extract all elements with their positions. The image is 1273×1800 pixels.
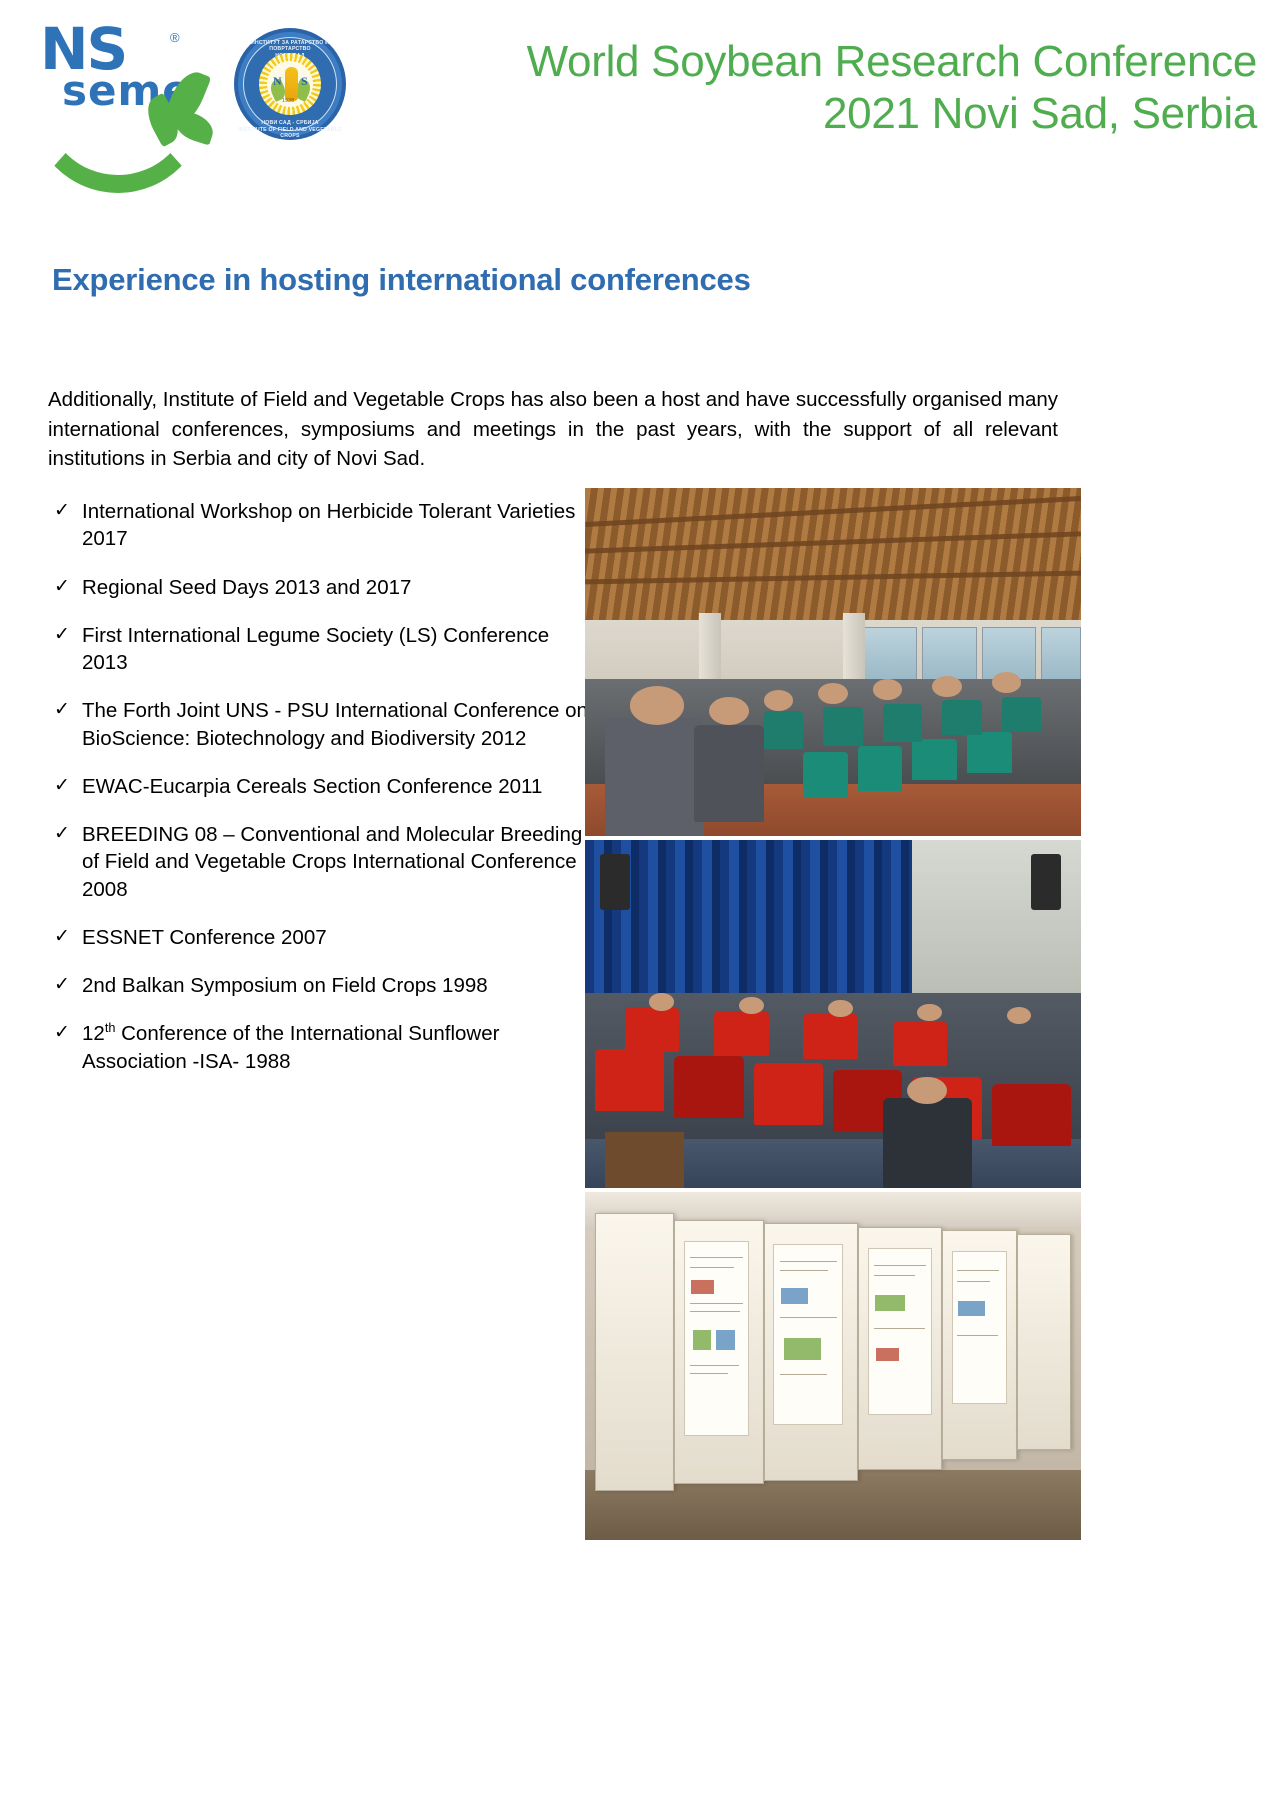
institute-seal-logo: ИНСТИТУТ ЗА РАТАРСТВО И ПОВРТАРСТВО НОВИ… (234, 28, 346, 140)
poster-sheet (684, 1241, 748, 1436)
list-item-label: BREEDING 08 – Conventional and Molecular… (82, 823, 582, 901)
list-item-label: EWAC-Eucarpia Cereals Section Conference… (82, 775, 542, 798)
photo-person-head (932, 676, 962, 697)
list-item: ✓ The Forth Joint UNS - PSU Internationa… (48, 697, 588, 752)
photo-seat (893, 1021, 948, 1066)
ns-seme-logo: NS seme ® (22, 18, 222, 188)
checkmark-icon: ✓ (54, 821, 70, 846)
photo-speaker (1031, 854, 1061, 910)
checkmark-icon: ✓ (54, 697, 70, 722)
photo-seat (942, 700, 982, 735)
checkmark-icon: ✓ (54, 924, 70, 949)
photo-person (605, 718, 704, 836)
photo-seat (714, 1011, 769, 1056)
list-item: ✓ International Workshop on Herbicide To… (48, 498, 588, 553)
list-item-label: The Forth Joint UNS - PSU International … (82, 699, 588, 749)
list-item-label-post: Conference of the International Sunflowe… (82, 1022, 499, 1072)
poster-board (595, 1213, 674, 1491)
seal-monogram-n: N (273, 74, 282, 89)
list-item-label: International Workshop on Herbicide Tole… (82, 500, 575, 550)
seal-monogram-s: S (301, 74, 308, 89)
photo-seat (595, 1049, 664, 1112)
photo-person-head (917, 1004, 942, 1021)
checkmark-icon: ✓ (54, 972, 70, 997)
registered-trademark-icon: ® (170, 30, 180, 45)
intro-paragraph: Additionally, Institute of Field and Veg… (48, 385, 1058, 474)
photo-person (883, 1098, 972, 1188)
photo-seat (1002, 697, 1042, 732)
photo-conference-hall (585, 488, 1081, 836)
photo-seat (754, 1063, 823, 1126)
checkmark-icon: ✓ (54, 574, 70, 599)
seal-top-text-line1: ИНСТИТУТ ЗА РАТАРСТВО И ПОВРТАРСТВО (251, 40, 329, 52)
seal-year: 1938 (282, 98, 294, 104)
photo-person-head (709, 697, 749, 725)
list-item: ✓ EWAC-Eucarpia Cereals Section Conferen… (48, 773, 588, 800)
conference-title: World Soybean Research Conference 2021 N… (457, 36, 1257, 140)
list-item-label: First International Legume Society (LS) … (82, 624, 549, 674)
conference-list: ✓ International Workshop on Herbicide To… (48, 498, 588, 1096)
photo-seat (625, 1007, 680, 1052)
photo-poster-session (585, 1192, 1081, 1540)
photo-person-head (818, 683, 848, 704)
photo-person-head (630, 686, 685, 724)
logo-wordmark: NS seme (40, 26, 192, 108)
photo-window (863, 627, 918, 686)
page-title: Experience in hosting international conf… (52, 262, 751, 298)
corn-cob-icon (285, 67, 298, 101)
page-header: NS seme ® ИНСТИТУТ ЗА РАТАРСТВО И ПОВРТА… (0, 0, 1273, 190)
list-item: ✓12th Conference of the International Su… (48, 1020, 588, 1075)
list-item-label: Regional Seed Days 2013 and 2017 (82, 576, 411, 599)
photo-seat (967, 732, 1012, 774)
photo-seat (912, 739, 957, 781)
photo-seat (883, 704, 923, 742)
list-item: ✓ First International Legume Society (LS… (48, 622, 588, 677)
poster-sheet (773, 1244, 842, 1425)
photo-seat (674, 1056, 743, 1119)
list-item: ✓ 2nd Balkan Symposium on Field Crops 19… (48, 972, 588, 999)
photo-seat (992, 1084, 1071, 1147)
poster-sheet (952, 1251, 1007, 1404)
checkmark-icon: ✓ (54, 1020, 70, 1045)
photo-person-head (739, 997, 764, 1014)
seal-bottom-text: НОВИ САД - СРБИЈА INSTITUTE OF FIELD AND… (234, 120, 346, 139)
list-item-label: 2nd Balkan Symposium on Field Crops 1998 (82, 974, 488, 997)
list-item: ✓ ESSNET Conference 2007 (48, 924, 588, 951)
photo-person-head (764, 690, 794, 711)
seal-bottom-text-line1: НОВИ САД - СРБИЈА (261, 120, 318, 126)
photo-seat (823, 707, 863, 745)
poster-board (1017, 1234, 1072, 1450)
photo-seat (858, 746, 903, 791)
poster-sheet (868, 1248, 932, 1415)
checkmark-icon: ✓ (54, 773, 70, 798)
photo-auditorium-red-seats (585, 840, 1081, 1188)
photo-seat (764, 711, 804, 749)
list-item-label-superscript: th (105, 1020, 116, 1035)
checkmark-icon: ✓ (54, 622, 70, 647)
list-item: ✓ BREEDING 08 – Conventional and Molecul… (48, 821, 588, 903)
list-item-label: ESSNET Conference 2007 (82, 926, 327, 949)
checkmark-icon: ✓ (54, 498, 70, 523)
conference-title-line1: World Soybean Research Conference (457, 36, 1257, 88)
list-item-label-pre: 12 (82, 1022, 105, 1045)
conference-title-line2: 2021 Novi Sad, Serbia (457, 88, 1257, 140)
photo-person (694, 725, 763, 822)
photo-seat (803, 1014, 858, 1059)
photo-speaker (600, 854, 630, 910)
seal-bottom-text-line2: INSTITUTE OF FIELD AND VEGETABLE CROPS (234, 127, 346, 139)
photo-person-head (649, 993, 674, 1010)
photo-window (1041, 627, 1081, 686)
photo-wood-panel (605, 1132, 684, 1188)
photo-seat (803, 752, 848, 797)
list-item: ✓ Regional Seed Days 2013 and 2017 (48, 574, 588, 601)
